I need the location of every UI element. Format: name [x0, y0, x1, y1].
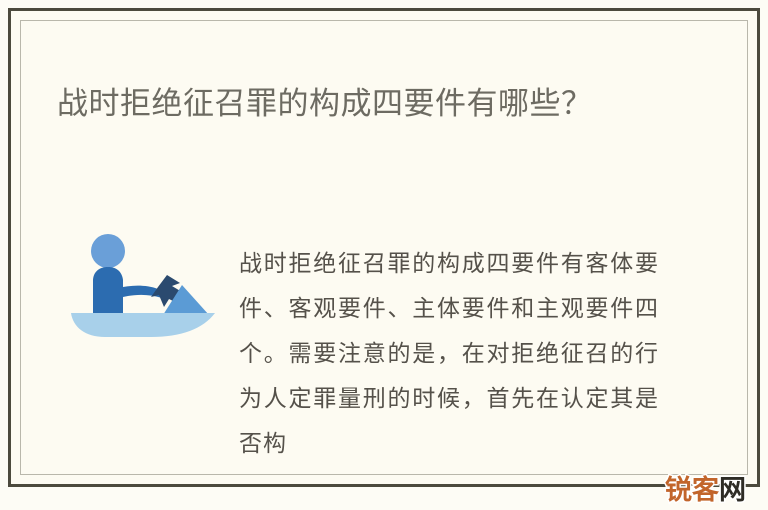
article-content: 战时拒绝征召罪的构成四要件有哪些？ 战时拒绝征召罪的构成四要件有客体要件、客观要… — [11, 11, 757, 484]
illustration-body — [93, 267, 162, 315]
article-body-text: 战时拒绝征召罪的构成四要件有客体要件、客观要件、主体要件和主观要件四个。需要注意… — [239, 242, 659, 467]
site-watermark: 锐客网 — [665, 477, 746, 504]
page-title: 战时拒绝征召罪的构成四要件有哪些？ — [57, 80, 657, 128]
illustration-hull — [71, 313, 215, 337]
person-kayaking-illustration — [63, 223, 223, 343]
page-border-frame: 战时拒绝征召罪的构成四要件有哪些？ 战时拒绝征召罪的构成四要件有客体要件、客观要… — [8, 8, 760, 487]
illustration-head — [91, 234, 125, 268]
watermark-secondary-text: 网 — [719, 475, 746, 506]
watermark-primary-text: 锐客 — [665, 475, 719, 506]
